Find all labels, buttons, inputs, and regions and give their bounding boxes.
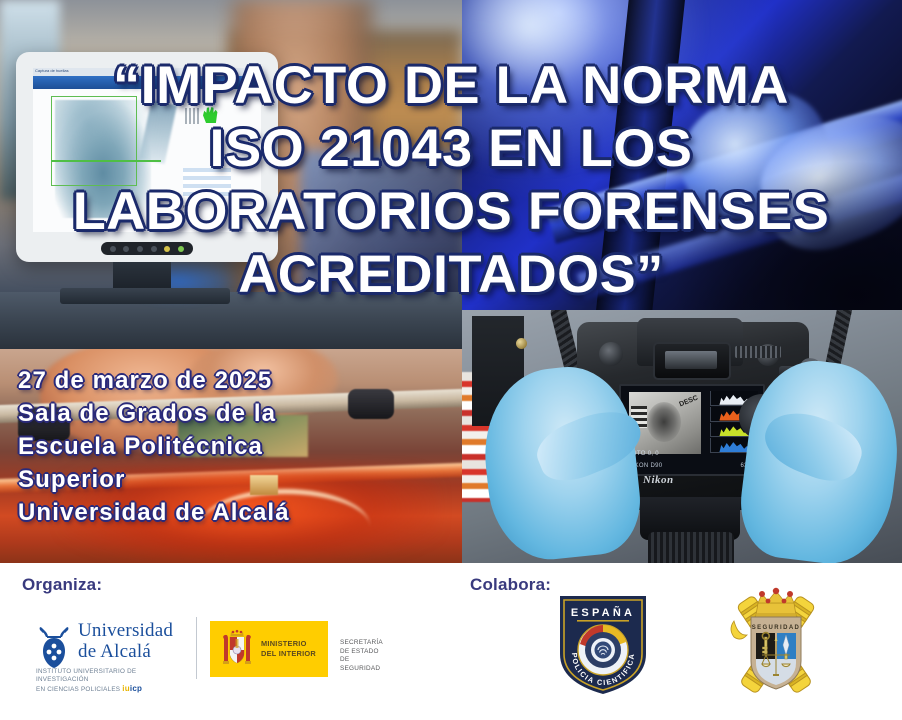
screen-toolbar: [33, 76, 261, 89]
uah-institute-caption: INSTITUTO UNIVERSITARIO DE INVESTIGACIÓN…: [36, 668, 188, 694]
logo-universidad-de-alcala: Universidad de Alcalá INSTITUTO UNIVERSI…: [36, 621, 188, 677]
screen-note-text: Rango fin calidad: [183, 204, 200, 216]
photo-forensic-camera: MENU WB ISO QUAL DESC: [462, 310, 902, 563]
uah-institute-line-2-wrap: EN CIENCIAS POLICIALES iuicp: [36, 685, 188, 694]
uv-vignette: [672, 160, 902, 310]
lab-circuit-board: [178, 415, 308, 457]
selection-box: [51, 96, 137, 186]
lab-knob-left: [18, 407, 70, 441]
viewfinder-glass: [665, 351, 717, 369]
monitor-led: [151, 246, 157, 252]
poster-footer: Organiza:: [0, 563, 902, 720]
lcd-preview-image: DESC: [629, 392, 701, 454]
uah-name-line-2: de Alcalá: [78, 641, 173, 662]
monitor-led-amber: [164, 246, 170, 252]
uah-storks-emblem-icon: [36, 623, 72, 669]
camera-viewfinder-eyecup: [653, 342, 731, 380]
hand-filled-green-icon: [203, 106, 218, 123]
screen-note-2: calidad: [183, 210, 196, 215]
screen-title-text: Captura de huellas: [35, 68, 69, 73]
monitor-led: [110, 246, 116, 252]
photo-electronics-lab: [0, 349, 462, 563]
scanner-screen: Captura de huellas Rango fin calidad: [33, 68, 261, 232]
photo-uv-forensic-light: [462, 0, 902, 310]
lcd-photo-label: DESC: [678, 395, 699, 409]
crown-icon: [756, 588, 796, 617]
crest-motto: SEGURIDAD: [752, 625, 801, 631]
spain-coat-of-arms-icon: [220, 627, 254, 671]
monitor-led: [137, 246, 143, 252]
iuicp-mark-iu: iu: [122, 684, 130, 693]
lab-light-arc: [200, 489, 370, 563]
logo-separator: [196, 617, 197, 679]
ministerio-line-1: MINISTERIO: [261, 639, 316, 649]
monitor-led-lime: [178, 246, 184, 252]
ministerio-line-2: DEL INTERIOR: [261, 649, 316, 659]
camera-mode-dial: [599, 342, 623, 366]
lab-knob-right: [348, 389, 394, 419]
scanner-monitor: Captura de huellas Rango fin calidad: [16, 52, 278, 262]
secretaria-line-1: SECRETARÍA DE ESTADO: [340, 639, 383, 656]
photo-fingerprint-scanner: Captura de huellas Rango fin calidad: [0, 0, 462, 349]
screen-data-rows: [183, 168, 231, 198]
iuicp-mark-icp: icp: [130, 684, 142, 693]
uah-name: Universidad de Alcalá: [78, 620, 173, 662]
ministerio-flag-block: MINISTERIO DEL INTERIOR: [210, 621, 328, 677]
logo-guardia-crest: SEGURIDAD: [720, 585, 832, 703]
secretaria-estado-caption: SECRETARÍA DE ESTADO DE SEGURIDAD: [340, 639, 383, 673]
logo-policia-cientifica: ESPAÑA POLICIA CIENTIFICA: [555, 592, 651, 698]
secretaria-line-2: DE SEGURIDAD: [340, 656, 383, 673]
photo-collage: Captura de huellas Rango fin calidad: [0, 0, 902, 563]
organiza-label: Organiza:: [22, 575, 102, 595]
uah-institute-line-2: EN CIENCIAS POLICIALES: [36, 686, 120, 693]
monitor-stand-base: [60, 288, 230, 304]
badge-espana-text: ESPAÑA: [571, 606, 635, 619]
screen-titlebar: Captura de huellas: [33, 68, 261, 76]
monitor-control-strip: [101, 242, 193, 255]
monitor-led: [123, 246, 129, 252]
lcd-fingerprint: [647, 402, 681, 442]
camera-lens-barrel: [648, 532, 734, 563]
gloved-fingers-right: [757, 401, 869, 490]
colabora-label: Colabora:: [470, 575, 551, 595]
camera-grip-texture: [735, 346, 781, 358]
uah-name-line-1: Universidad: [78, 620, 173, 641]
hand-outline-icon: [185, 108, 199, 124]
lab-chip: [250, 475, 278, 495]
bracket-screw: [516, 338, 527, 349]
ministerio-name: MINISTERIO DEL INTERIOR: [261, 639, 316, 658]
selection-guide-line: [51, 160, 161, 162]
uah-institute-line-1: INSTITUTO UNIVERSITARIO DE INVESTIGACIÓN: [36, 668, 188, 685]
camera-brand-label: Nikon: [643, 474, 674, 486]
screen-note-1: Rango fin: [183, 204, 200, 209]
event-poster: Captura de huellas Rango fin calidad: [0, 0, 902, 720]
